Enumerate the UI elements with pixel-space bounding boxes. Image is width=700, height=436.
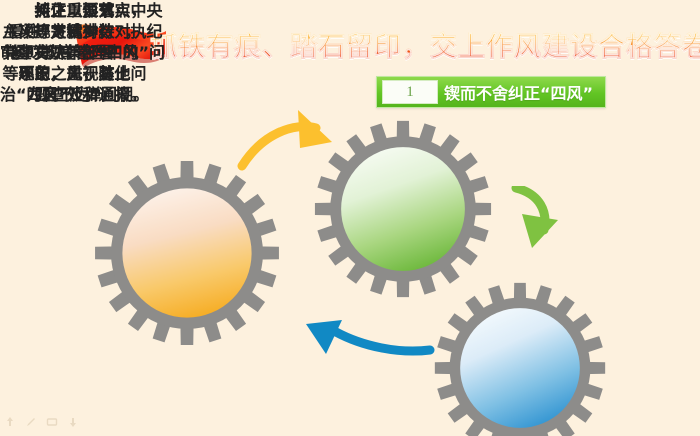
gear-right-line-4: 等现象，重视整	[3, 63, 115, 84]
next-icon[interactable]	[67, 416, 79, 428]
pen-icon[interactable]	[25, 416, 37, 428]
gear-right	[432, 280, 608, 436]
gear-right-text: 纠正以形式 主义等方式对待 党中央决策部署 等现象，重视整 治“为官不为”。	[0, 0, 117, 106]
arrow-left-to-middle	[236, 104, 346, 176]
presentation-toolbar[interactable]	[4, 414, 79, 430]
arrow-right-to-left	[288, 306, 438, 380]
gear-right-line-3: 党中央决策部署	[3, 42, 115, 63]
slide-title: 抓铁有痕、踏石留印，交上作风建设合格答卷	[150, 25, 700, 64]
section-number-badge: 1	[382, 80, 438, 104]
slide-title-wrap: 抓铁有痕、踏石留印，交上作风建设合格答卷	[150, 22, 620, 66]
gear-right-line-5: 治“为官不为”。	[0, 84, 117, 105]
slide-canvas: 抓铁有痕、踏石留印，交上作风建设合格答卷 1 锲而不舍纠正“四风”	[0, 0, 700, 436]
gear-right-line-1: 纠正以形式	[3, 0, 115, 21]
gear-left	[92, 158, 282, 348]
pointer-icon[interactable]	[4, 416, 16, 428]
slide-icon[interactable]	[46, 416, 58, 428]
section-subtitle-text: 锲而不舍纠正“四风”	[438, 80, 605, 104]
arrow-middle-to-right	[496, 186, 568, 282]
section-subtitle-bar: 1 锲而不舍纠正“四风”	[376, 76, 606, 108]
gear-right-line-2: 主义等方式对待	[3, 21, 115, 42]
